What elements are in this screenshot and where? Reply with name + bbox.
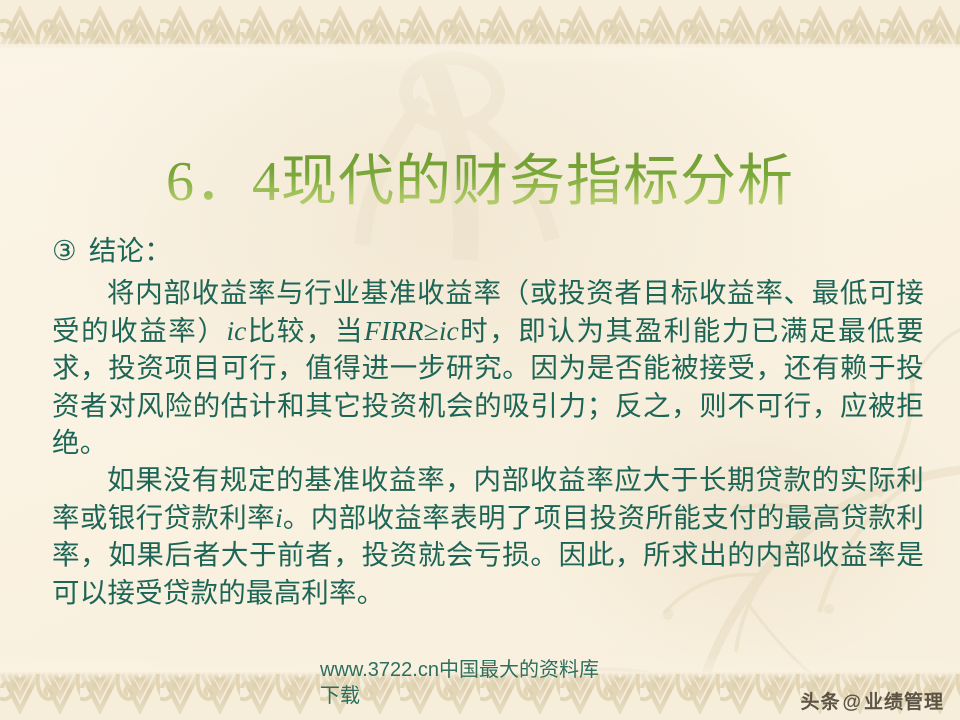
bullet-label: 结论： — [89, 235, 172, 266]
watermark-prefix: 头条 — [800, 692, 840, 713]
watermark-account-name: 业绩管理 — [864, 692, 944, 713]
at-symbol-icon: @ — [842, 692, 862, 713]
top-border-fade — [0, 44, 960, 66]
math-symbol-ic: ic — [226, 315, 246, 346]
text-run-5: ≥ — [424, 315, 439, 346]
paragraph-2: 如果没有规定的基准收益率，内部收益率应大于长期贷款的实际利率或银行贷款利率i。内… — [52, 461, 924, 611]
slide-title: 6．4现代的财务指标分析 — [0, 150, 960, 214]
text-run-3: 比较，当 — [246, 315, 364, 346]
corner-watermark: 头条@业绩管理 — [800, 687, 944, 714]
conclusion-heading: ③结论： — [52, 232, 924, 269]
bullet-marker-3: ③ — [52, 235, 77, 266]
footer-source-credit: www.3722.cn中国最大的资料库 下载 — [320, 657, 700, 709]
math-symbol-ic: ic — [439, 315, 459, 346]
math-symbol-firr: FIRR — [364, 315, 424, 346]
paragraph-1: 将内部收益率与行业基准收益率（或投资者目标收益率、最低可接受的收益率）ic比较，… — [52, 274, 924, 461]
slide-body: ③结论： 将内部收益率与行业基准收益率（或投资者目标收益率、最低可接受的收益率）… — [52, 232, 924, 611]
top-decorative-border — [0, 0, 960, 48]
footer-line-1: www.3722.cn中国最大的资料库 — [320, 657, 700, 683]
math-symbol-i: i — [275, 502, 283, 533]
footer-line-2: 下载 — [320, 683, 700, 709]
slide-canvas: 6．4现代的财务指标分析 ③结论： 将内部收益率与行业基准收益率（或投资者目标收… — [0, 0, 960, 720]
